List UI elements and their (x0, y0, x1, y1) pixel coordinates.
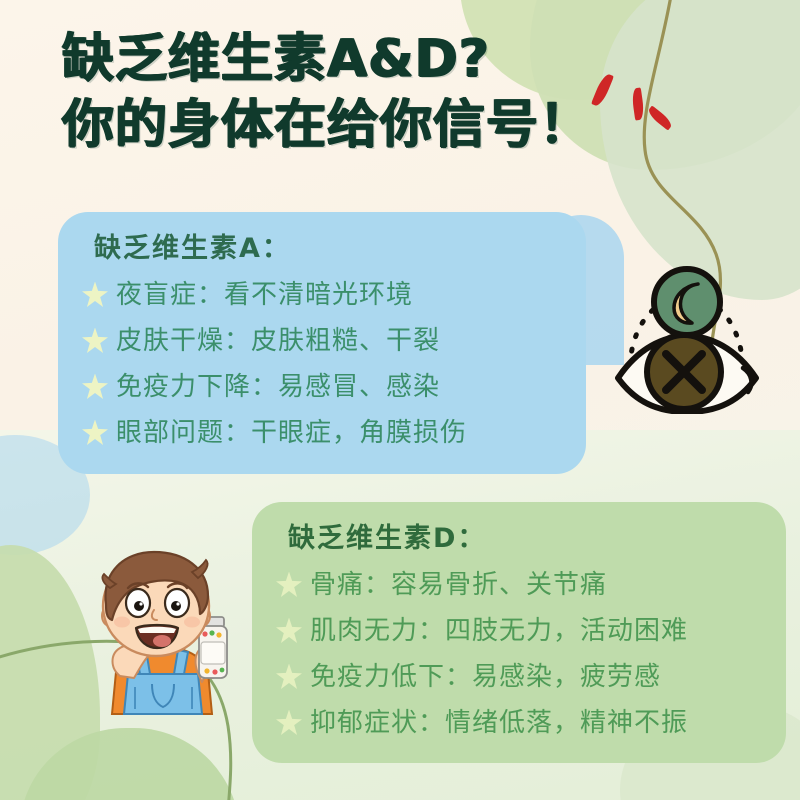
star-bullet-icon (276, 664, 302, 690)
vitamin-a-symptom-list: 夜盲症：看不清暗光环境 皮肤干燥：皮肤粗糙、干裂 免疫力下降：易感冒、感染 眼部… (82, 272, 564, 455)
list-item: 骨痛：容易骨折、关节痛 (276, 562, 766, 607)
vitamin-a-card-title: 缺乏维生素A： (94, 232, 564, 266)
iris-x-icon (647, 335, 721, 409)
red-petal-3 (646, 105, 674, 130)
list-item-label: 眼部问题：干眼症，角膜损伤 (116, 417, 467, 449)
baby-head (102, 552, 210, 656)
list-item-label: 夜盲症：看不清暗光环境 (116, 279, 413, 311)
red-petal-1 (591, 72, 614, 108)
star-bullet-icon (82, 420, 108, 446)
vitamin-d-card: 缺乏维生素D： 骨痛：容易骨折、关节痛 肌肉无力：四肢无力，活动困难 免疫力低下… (252, 502, 786, 763)
list-item-label: 皮肤干燥：皮肤粗糙、干裂 (116, 325, 440, 357)
list-item: 肌肉无力：四肢无力，活动困难 (276, 608, 766, 653)
star-bullet-icon (276, 572, 302, 598)
green-blob-right (600, 0, 800, 300)
vitamin-d-symptom-list: 骨痛：容易骨折、关节痛 肌肉无力：四肢无力，活动困难 免疫力低下：易感染，疲劳感… (276, 562, 766, 745)
list-item: 免疫力下降：易感冒、感染 (82, 364, 564, 409)
red-petal-2 (631, 87, 645, 120)
list-item-label: 免疫力下降：易感冒、感染 (116, 371, 440, 403)
vitamin-d-card-title: 缺乏维生素D： (288, 522, 766, 556)
list-item-label: 肌肉无力：四肢无力，活动困难 (310, 615, 688, 647)
night-blindness-eye-illustration (612, 262, 762, 414)
baby-eating-vitamin-gummy-illustration (66, 544, 262, 744)
vitamin-a-card: 缺乏维生素A： 夜盲症：看不清暗光环境 皮肤干燥：皮肤粗糙、干裂 免疫力下降：易… (58, 212, 586, 474)
star-bullet-icon (276, 710, 302, 736)
list-item: 皮肤干燥：皮肤粗糙、干裂 (82, 318, 564, 363)
poster-root: 缺乏维生素A&D? 你的身体在给你信号！ 缺乏维生素A： 夜盲症：看不清暗光环境… (0, 0, 800, 800)
list-item-label: 骨痛：容易骨折、关节痛 (310, 569, 607, 601)
star-bullet-icon (82, 282, 108, 308)
list-item: 免疫力低下：易感染，疲劳感 (276, 654, 766, 699)
list-item-label: 免疫力低下：易感染，疲劳感 (310, 661, 661, 693)
headline-line-2: 你的身体在给你信号！ (62, 92, 592, 158)
list-item: 抑郁症状：情绪低落，精神不振 (276, 700, 766, 745)
star-bullet-icon (82, 374, 108, 400)
headline: 缺乏维生素A&D? 你的身体在给你信号！ (62, 26, 592, 158)
moon-badge-icon (654, 269, 720, 335)
headline-line-1: 缺乏维生素A&D? (62, 26, 592, 92)
list-item: 眼部问题：干眼症，角膜损伤 (82, 410, 564, 455)
star-bullet-icon (276, 618, 302, 644)
star-bullet-icon (82, 328, 108, 354)
list-item-label: 抑郁症状：情绪低落，精神不振 (310, 707, 688, 739)
list-item: 夜盲症：看不清暗光环境 (82, 272, 564, 317)
